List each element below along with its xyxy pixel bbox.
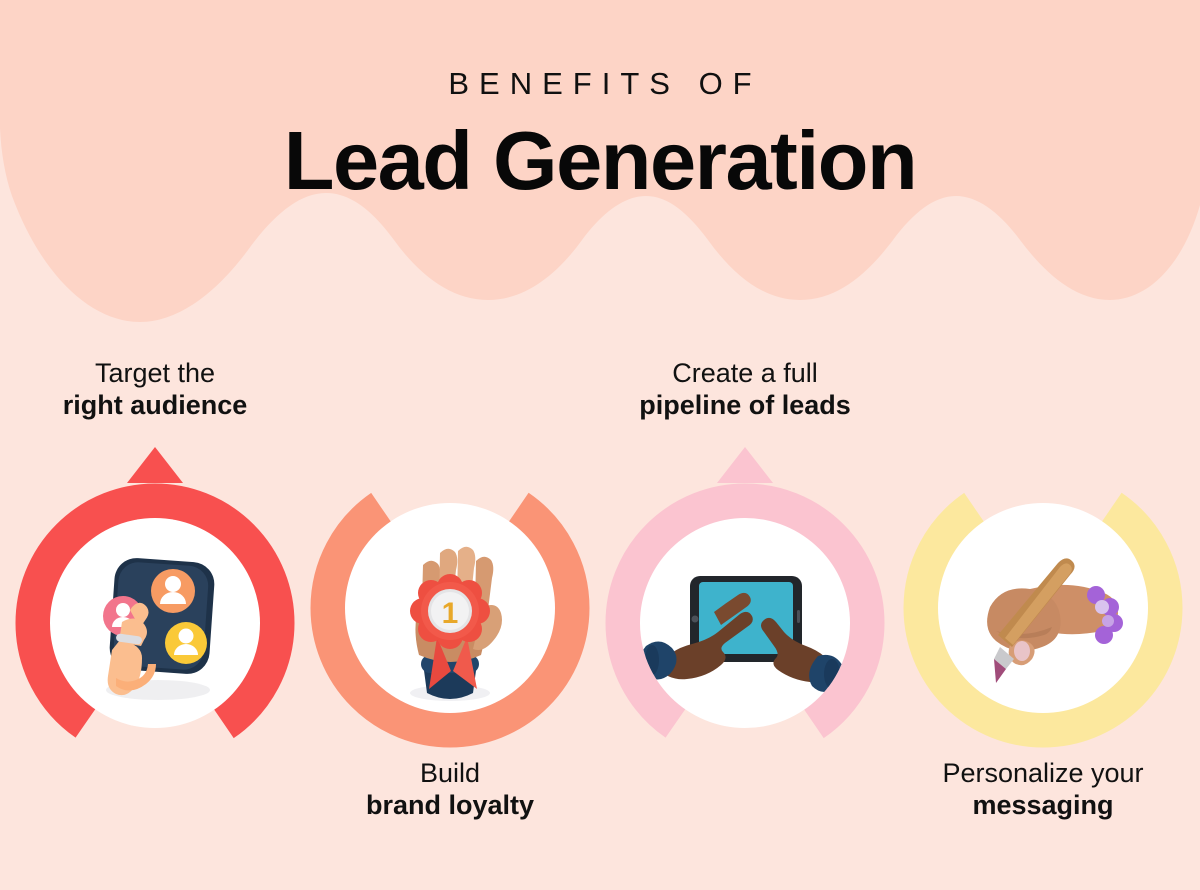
benefit-caption-line2: brand loyalty <box>300 790 600 822</box>
svg-text:1: 1 <box>442 597 459 630</box>
hands-holding-tablet-icon <box>640 518 850 728</box>
pointer-triangle-up <box>717 447 773 483</box>
benefit-icon-disc <box>640 518 850 728</box>
benefit-caption-line2: pipeline of leads <box>595 390 895 422</box>
benefit-caption-line1: Build <box>300 758 600 790</box>
benefit-caption: Personalize your messaging <box>893 758 1193 822</box>
hand-writing-with-pen-icon <box>938 503 1148 713</box>
benefit-caption-line2: messaging <box>893 790 1193 822</box>
benefit-caption-line2: right audience <box>5 390 305 422</box>
pointer-triangle-up <box>127 447 183 483</box>
benefit-caption-line1: Create a full <box>595 358 895 390</box>
benefit-icon-disc: 1 <box>345 503 555 713</box>
benefit-icon-disc <box>938 503 1148 713</box>
benefit-icon-ring <box>605 483 885 763</box>
page-title: Lead Generation <box>0 117 1200 204</box>
benefit-icon-disc <box>50 518 260 728</box>
hand-holding-first-place-ribbon-icon: 1 <box>345 503 555 713</box>
header: BENEFITS OF Lead Generation <box>0 0 1200 204</box>
benefit-icon-ring <box>903 468 1183 748</box>
benefit-caption: Build brand loyalty <box>300 758 600 822</box>
eyebrow-text: BENEFITS OF <box>0 68 1200 99</box>
contacts-card-hand-pointing-icon <box>50 518 260 728</box>
benefit-caption-line1: Personalize your <box>893 758 1193 790</box>
infographic-canvas: BENEFITS OF Lead Generation Target the r… <box>0 0 1200 890</box>
benefit-icon-ring: 1 <box>310 468 590 748</box>
benefit-icon-ring <box>15 483 295 763</box>
benefit-caption: Create a full pipeline of leads <box>595 358 895 422</box>
benefit-caption-line1: Target the <box>5 358 305 390</box>
benefit-caption: Target the right audience <box>5 358 305 422</box>
